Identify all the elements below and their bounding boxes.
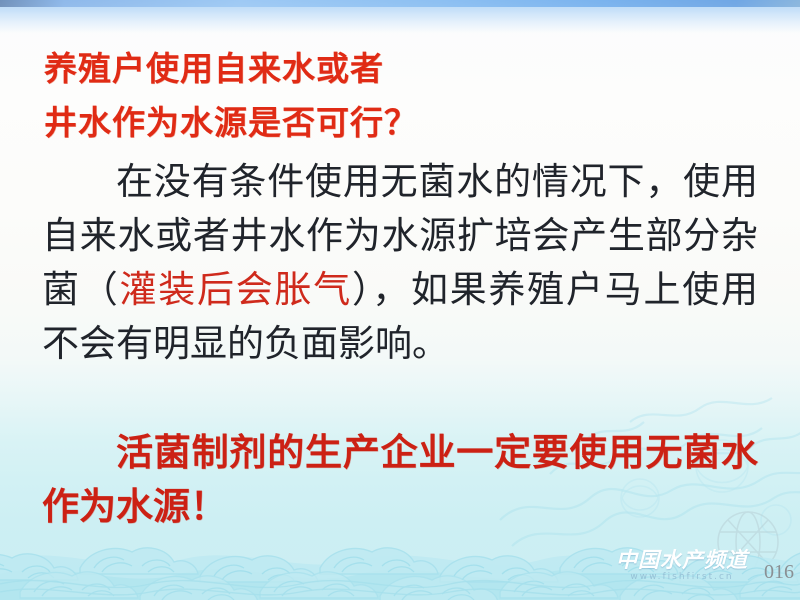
body-paragraph: 在没有条件使用无菌水的情况下，使用自来水或者井水作为水源扩培会产生部分杂菌（灌装… (42, 155, 758, 371)
slide-canvas: 养殖户使用自来水或者 井水作为水源是否可行？ 在没有条件使用无菌水的情况下，使用… (0, 0, 800, 600)
body-segment-highlight: 灌装后会胀气 (120, 268, 353, 311)
closing-paragraph: 活菌制剂的生产企业一定要使用无菌水作为水源！ (42, 425, 758, 533)
heading-line-2: 井水作为水源是否可行？ (44, 96, 764, 150)
heading-line-1: 养殖户使用自来水或者 (44, 42, 764, 96)
slide-heading: 养殖户使用自来水或者 井水作为水源是否可行？ (44, 42, 764, 150)
slide-content: 养殖户使用自来水或者 井水作为水源是否可行？ 在没有条件使用无菌水的情况下，使用… (0, 0, 800, 600)
page-number: 016 (764, 561, 794, 584)
